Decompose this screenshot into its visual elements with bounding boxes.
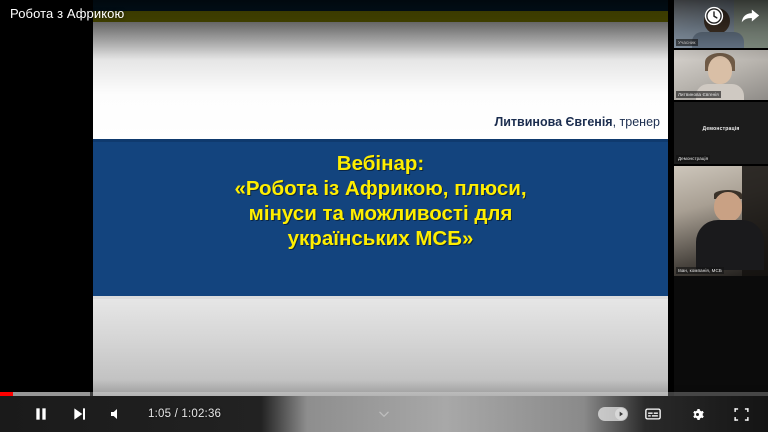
slide-lower-panel (93, 299, 668, 400)
tile-4-person-body (696, 220, 764, 270)
screen-share-tile[interactable]: Демонстрація Демонстрація (674, 102, 768, 164)
watch-later-icon[interactable] (702, 4, 726, 28)
tile-4-person-head (714, 192, 742, 222)
video-title: Робота з Африкою (10, 6, 124, 21)
slide-title-block: Вебінар: «Робота із Африкою, плюси, міну… (93, 139, 668, 296)
tile-1-name-label: Учасник (676, 39, 698, 46)
tile-1-person-body (692, 32, 744, 48)
tile-4-name-label: Іван, компанія, МСБ (676, 267, 724, 274)
slide-gold-band (93, 11, 668, 22)
player-controls[interactable]: 1:05 / 1:02:36 (0, 396, 768, 432)
presenter-role: , тренер (613, 115, 660, 129)
controls-right-group[interactable] (598, 396, 760, 432)
webinar-title-line-3: українських МСБ» (93, 226, 668, 251)
collapse-size-icon[interactable] (722, 396, 760, 432)
presenter-credit: Литвинова Євгенія, тренер (494, 115, 660, 129)
settings-gear-icon[interactable] (678, 396, 716, 432)
autoplay-toggle[interactable] (598, 407, 628, 421)
webinar-title-line-1: «Робота із Африкою, плюси, (93, 176, 668, 201)
top-action-buttons[interactable] (702, 4, 762, 28)
participant-tile-2[interactable]: Литвинова Євгенія (674, 50, 768, 100)
participants-sidebar[interactable]: Учасник Литвинова Євгенія Демонстрація Д… (674, 0, 768, 400)
shared-slide: Литвинова Євгенія, тренер Вебінар: «Робо… (93, 0, 668, 400)
presenter-name: Литвинова Євгенія (494, 115, 612, 129)
tile-2-name-label: Литвинова Євгенія (676, 91, 721, 98)
slide-upper-panel: Литвинова Євгенія, тренер (93, 22, 668, 139)
participant-tile-4[interactable]: Іван, компанія, МСБ (674, 166, 768, 276)
webinar-title-line-2: мінуси та можливості для (93, 201, 668, 226)
slide-navy-band (93, 0, 668, 11)
webinar-heading: Вебінар: «Робота із Африкою, плюси, міну… (93, 151, 668, 251)
autoplay-toggle-knob (615, 408, 627, 420)
screen-share-center-label: Демонстрація (674, 126, 768, 132)
slide-title-block-topline (93, 139, 668, 142)
share-icon[interactable] (738, 4, 762, 28)
video-player[interactable]: Литвинова Євгенія, тренер Вебінар: «Робо… (0, 0, 768, 432)
subtitles-icon[interactable] (634, 396, 672, 432)
webinar-label: Вебінар: (93, 151, 668, 176)
tile-2-person-head (708, 56, 732, 84)
chevron-down-icon[interactable] (365, 396, 403, 432)
screen-share-name-label: Демонстрація (676, 155, 710, 162)
